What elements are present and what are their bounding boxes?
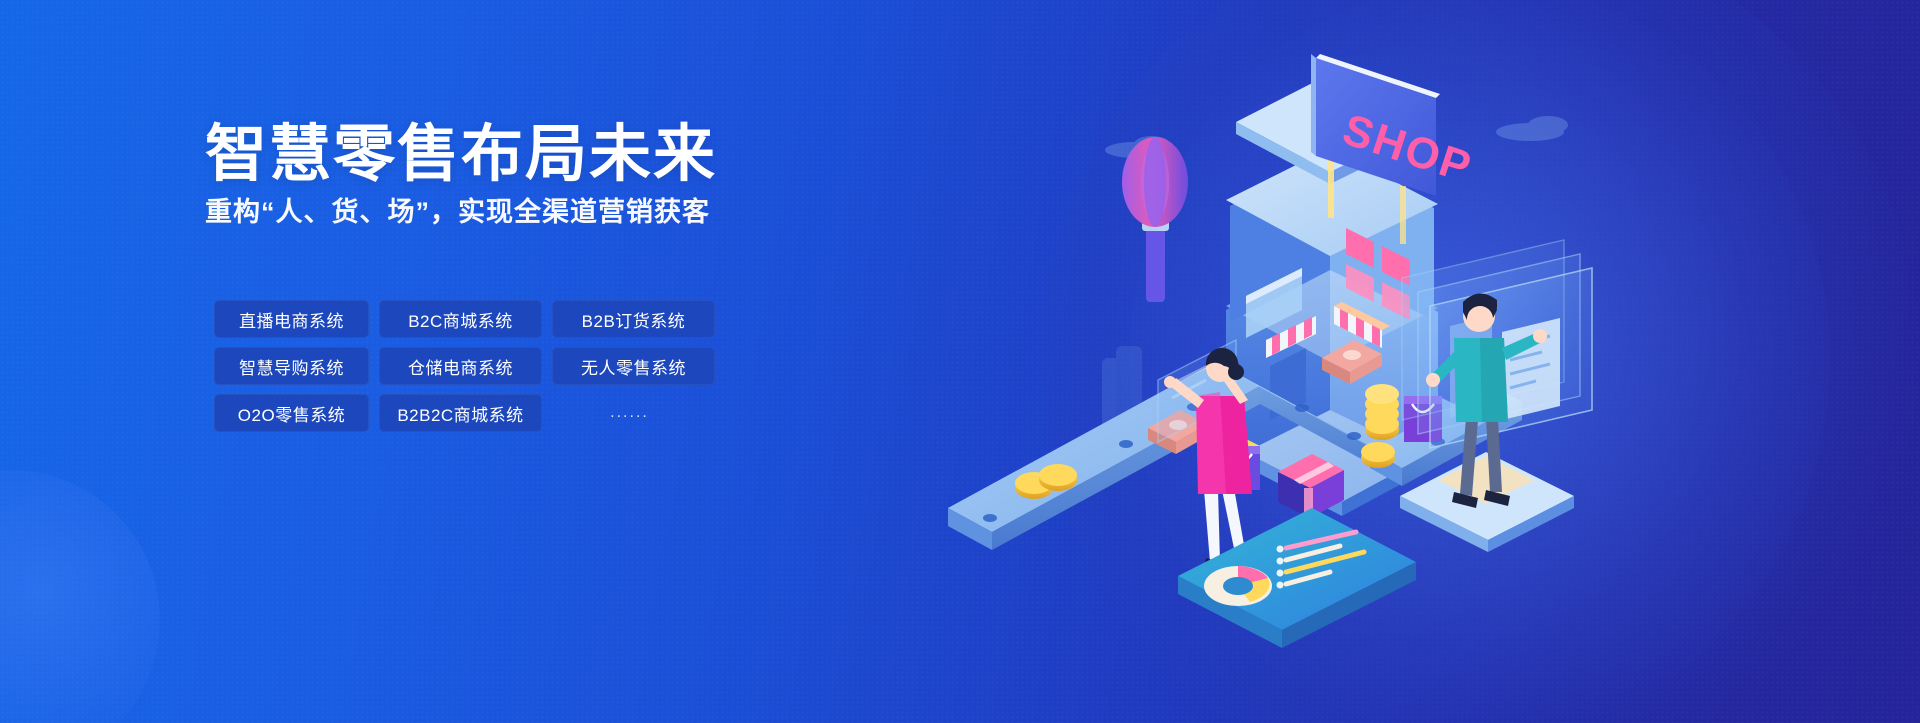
background-glow-left [0,470,160,723]
tag-smart-guide[interactable]: 智慧导购系统 [214,347,369,385]
male-shopper-avatar [1400,240,1592,552]
tag-o2o-retail[interactable]: O2O零售系统 [214,394,369,432]
tag-unmanned-retail[interactable]: 无人零售系统 [552,347,715,385]
retail-isometric-illustration: SHOP [930,10,1630,710]
gold-coins-icon [1361,384,1399,468]
tag-b2b2c-mall[interactable]: B2B2C商城系统 [379,394,542,432]
page-subtitle: 重构“人、货、场”，实现全渠道营销获客 [205,195,925,230]
hero-copy: 智慧零售布局未来 重构“人、货、场”，实现全渠道营销获客 [205,120,925,231]
cloud-icon [1496,116,1568,141]
tag-more-ellipsis: ...... [552,394,707,432]
product-tag-list: 直播电商系统 B2C商城系统 B2B订货系统 智慧导购系统 仓储电商系统 无人零… [214,300,874,441]
donut-chart-icon [1204,566,1272,606]
tag-live-ecommerce[interactable]: 直播电商系统 [214,300,369,338]
page-title: 智慧零售布局未来 [205,120,925,189]
tag-warehouse-ecommerce[interactable]: 仓储电商系统 [379,347,542,385]
hot-air-balloon-icon [1122,137,1188,302]
tag-row: O2O零售系统 B2B2C商城系统 ...... [214,394,874,432]
tag-b2b-ordering[interactable]: B2B订货系统 [552,300,715,338]
tag-row: 直播电商系统 B2C商城系统 B2B订货系统 [214,300,874,338]
tag-b2c-mall[interactable]: B2C商城系统 [379,300,542,338]
tag-row: 智慧导购系统 仓储电商系统 无人零售系统 [214,347,874,385]
female-shopper-avatar [1158,340,1254,572]
hero-banner: 智慧零售布局未来 重构“人、货、场”，实现全渠道营销获客 直播电商系统 B2C商… [0,0,1920,723]
